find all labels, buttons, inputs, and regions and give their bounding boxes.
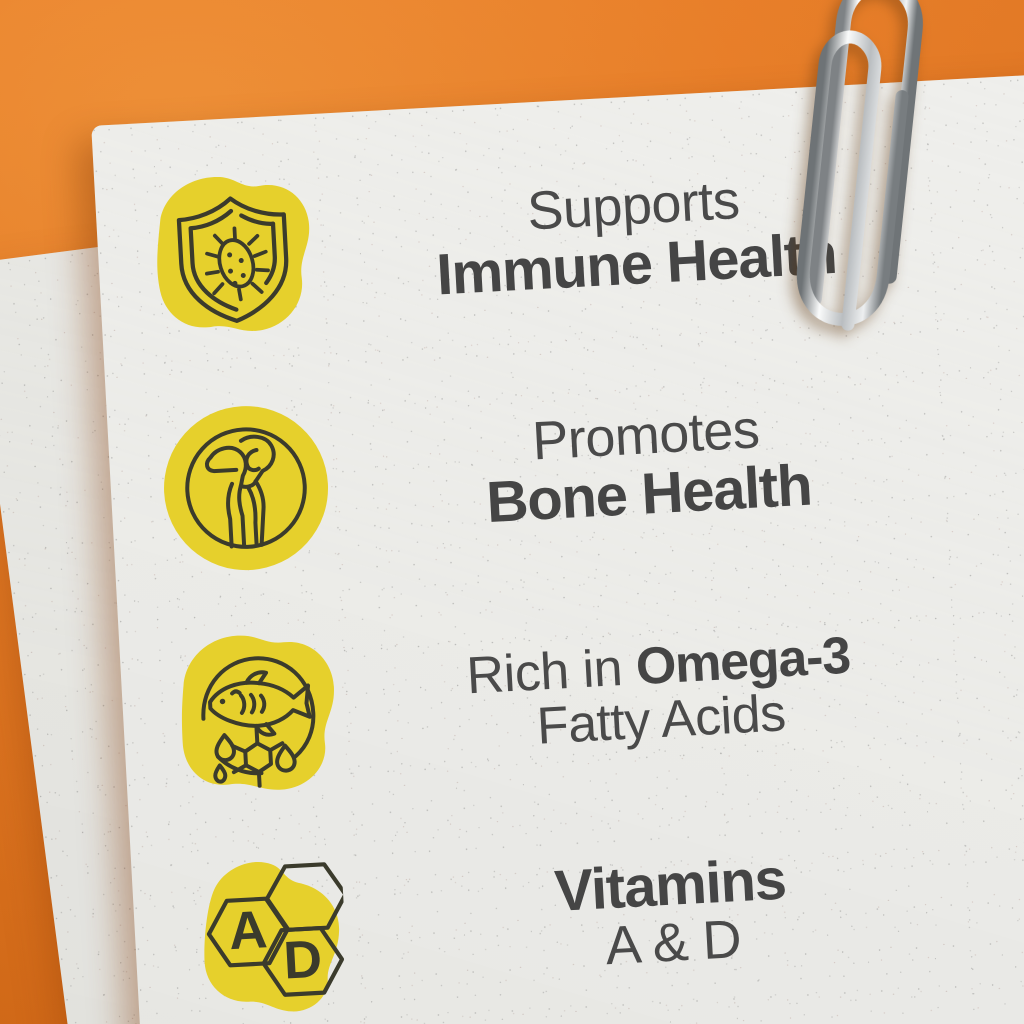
benefit-row-bone: Promotes Bone Health <box>145 344 975 598</box>
hexagon-vitamins-ad-icon: A D <box>191 856 349 1014</box>
knee-joint-bone-icon <box>167 409 325 567</box>
benefit-text-bone: Promotes Bone Health <box>338 391 973 540</box>
benefit-row-vitamins: A D Vitamins A & D <box>170 788 1000 1024</box>
benefit-text-vitamins: Vitamins A & D <box>362 838 997 987</box>
badge-vitamins: A D <box>170 835 370 1024</box>
benefit-text-omega: Rich in Omega-3 Fatty Acids <box>350 623 985 764</box>
badge-bone <box>146 388 346 588</box>
badge-immune <box>134 158 334 358</box>
benefit-row-omega: Rich in Omega-3 Fatty Acids <box>158 569 988 828</box>
shield-germ-icon <box>155 179 313 337</box>
fish-omega-oil-icon <box>179 636 337 794</box>
hex-label-a: A <box>227 900 268 961</box>
badge-omega <box>158 615 358 815</box>
benefit-card-canvas: Supports Immune Health <box>0 0 1024 1024</box>
hex-label-d: D <box>282 929 323 990</box>
